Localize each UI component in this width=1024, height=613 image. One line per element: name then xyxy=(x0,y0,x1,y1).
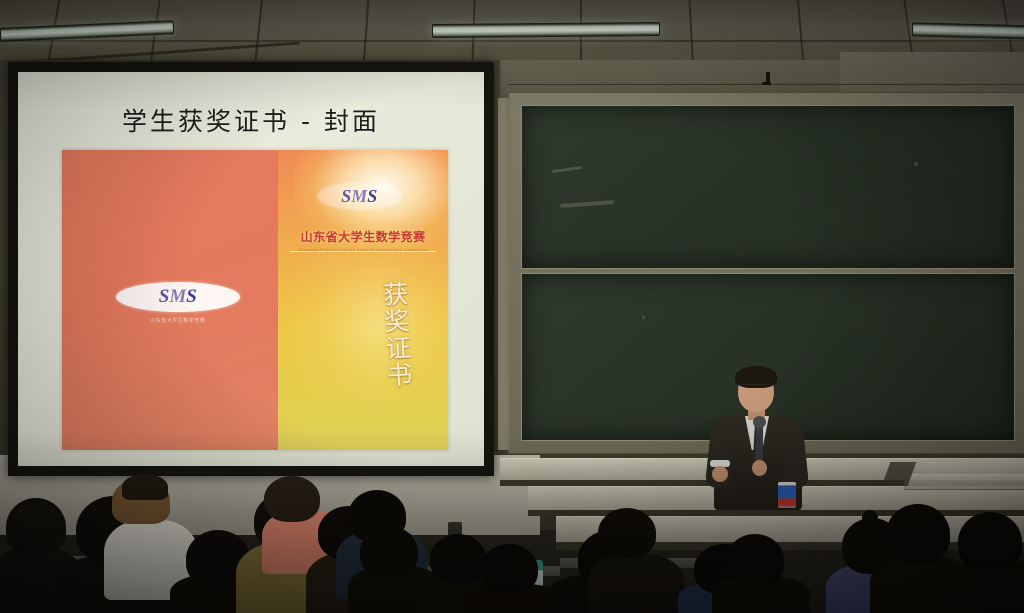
fluorescent-light-fixture xyxy=(912,22,1024,39)
list-item xyxy=(430,534,486,584)
lecture-hall-photo: 学生获奖证书 - 封面 SMS 山东省大学生数学竞赛 SMS xyxy=(0,0,1024,613)
sms-letter-m: M xyxy=(351,186,367,207)
certificate-cover-image: SMS 山东省大学生数学竞赛 SMS 山东省大学生数学竞赛 Shandong P… xyxy=(62,150,448,450)
list-item xyxy=(6,498,66,556)
sms-letter-s1: S xyxy=(159,286,170,308)
slide-surface: 学生获奖证书 - 封面 SMS 山东省大学生数学竞赛 SMS xyxy=(18,72,484,466)
certificate-calligraphy-title: 获奖证书 xyxy=(345,280,412,391)
list-item xyxy=(480,544,538,594)
list-item xyxy=(588,554,684,613)
microphone-head-icon xyxy=(753,416,766,428)
sms-logo-icon: SMS xyxy=(116,282,240,312)
certificate-back-logo: SMS 山东省大学生数学竞赛 xyxy=(116,282,240,324)
list-item xyxy=(958,512,1022,572)
list-item xyxy=(264,476,320,522)
sms-letter-s1: S xyxy=(341,186,351,207)
certificate-organization-cn: 山东省大学生数学竞赛 xyxy=(286,228,440,245)
list-item xyxy=(122,474,168,500)
fluorescent-light-fixture xyxy=(0,20,174,42)
certificate-front-logo: SMS xyxy=(301,183,417,209)
wall-hook-icon xyxy=(766,72,770,85)
blackboard-upper-panel xyxy=(521,105,1015,269)
audience xyxy=(0,470,1024,613)
certificate-back-sublabel: 山东省大学生数学竞赛 xyxy=(116,317,240,324)
sms-letter-s2: S xyxy=(367,186,377,207)
list-item xyxy=(360,526,418,578)
list-item xyxy=(862,510,878,526)
list-item xyxy=(886,504,950,564)
fluorescent-light-fixture xyxy=(432,22,660,38)
sms-letter-s2: S xyxy=(186,286,197,308)
eyeglasses-icon xyxy=(741,384,771,391)
sms-logo-icon: SMS xyxy=(318,183,401,209)
projection-screen: 学生获奖证书 - 封面 SMS 山东省大学生数学竞赛 SMS xyxy=(8,62,494,476)
slide-title: 学生获奖证书 - 封面 xyxy=(18,102,484,138)
list-item xyxy=(598,508,656,558)
list-item xyxy=(726,534,784,586)
sms-letter-m: M xyxy=(169,286,186,308)
certificate-divider-rule xyxy=(290,251,437,252)
certificate-organization: 山东省大学生数学竞赛 Shandong Province College Stu… xyxy=(286,228,440,252)
blackboard-left-frame xyxy=(498,98,510,450)
